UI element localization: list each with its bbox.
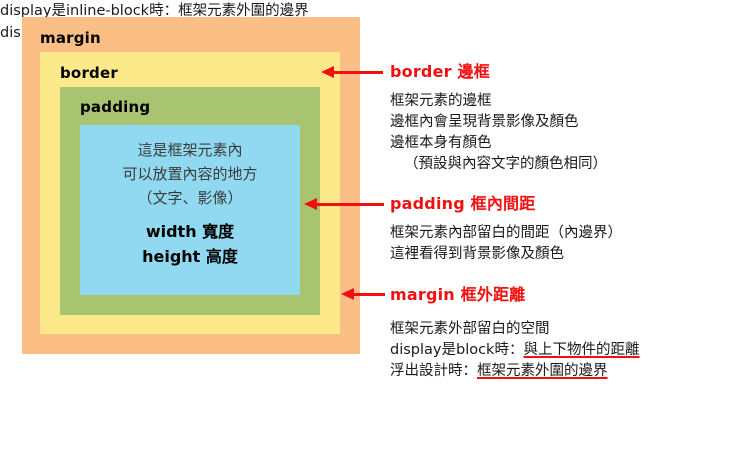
annotation-line: 框架元素的邊框 (390, 91, 607, 112)
annotation-line: display是block時：與上下物件的距離 (390, 340, 639, 361)
annotation-border-body: 框架元素的邊框 邊框內會呈現背景影像及顏色 邊框本身有顏色 （預設與內容文字的顏… (390, 91, 607, 175)
content-text-line: （文字、影像） (137, 186, 242, 210)
annotation-line-text: （預設與內容文字的顏色相同） (390, 154, 607, 175)
content-layer: 這是框架元素內 可以放置內容的地方 （文字、影像） width 寬度 heigh… (80, 125, 300, 295)
content-height-label: height 高度 (142, 244, 238, 269)
annotation-margin-title: margin 框外距離 (390, 281, 639, 305)
margin-layer: margin border padding 這是框架元素內 可以放置內容的地方 … (22, 17, 360, 354)
annotation-padding-body: 框架元素內部留白的間距（內邊界） 這裡看得到背景影像及顏色 (390, 223, 622, 265)
annotation-line: （預設與內容文字的顏色相同） (390, 154, 607, 175)
border-layer: border padding 這是框架元素內 可以放置內容的地方 （文字、影像）… (40, 52, 340, 334)
content-text-line: 這是框架元素內 (137, 138, 242, 162)
annotation-line: 邊框內會呈現背景影像及顏色 (390, 112, 607, 133)
annotation-line-prefix: 浮出設計時： (390, 363, 477, 379)
annotation-line-prefix: display是block時： (390, 342, 523, 358)
content-width-label: width 寬度 (146, 219, 234, 244)
border-layer-label: border (60, 64, 118, 82)
padding-layer-label: padding (80, 98, 150, 116)
annotation-padding-title: padding 框內間距 (390, 190, 622, 214)
annotation-line-emphasis: 框架元素外圍的邊界 (477, 363, 608, 379)
margin-layer-label: margin (40, 29, 101, 47)
annotation-line: 邊框本身有顏色 (390, 133, 607, 154)
padding-layer: padding 這是框架元素內 可以放置內容的地方 （文字、影像） width … (60, 87, 320, 315)
annotation-border: border 邊框 框架元素的邊框 邊框內會呈現背景影像及顏色 邊框本身有顏色 … (390, 58, 607, 175)
annotation-margin: margin 框外距離 框架元素外部留白的空間 display是block時：與… (390, 281, 639, 382)
annotation-padding: padding 框內間距 框架元素內部留白的間距（內邊界） 這裡看得到背景影像及… (390, 190, 622, 265)
annotation-margin-body: 框架元素外部留白的空間 display是block時：與上下物件的距離 浮出設計… (390, 319, 639, 382)
annotation-line: 浮出設計時：框架元素外圍的邊界 (390, 361, 639, 382)
annotation-border-title: border 邊框 (390, 58, 607, 82)
annotation-line: 框架元素外部留白的空間 (390, 319, 639, 340)
annotation-line: 框架元素內部留白的間距（內邊界） (390, 223, 622, 244)
box-model-diagram: margin border padding 這是框架元素內 可以放置內容的地方 … (22, 17, 360, 354)
annotation-line: 這裡看得到背景影像及顏色 (390, 244, 622, 265)
annotation-line-emphasis: 與上下物件的距離 (523, 342, 639, 358)
content-text-line: 可以放置內容的地方 (122, 162, 257, 186)
